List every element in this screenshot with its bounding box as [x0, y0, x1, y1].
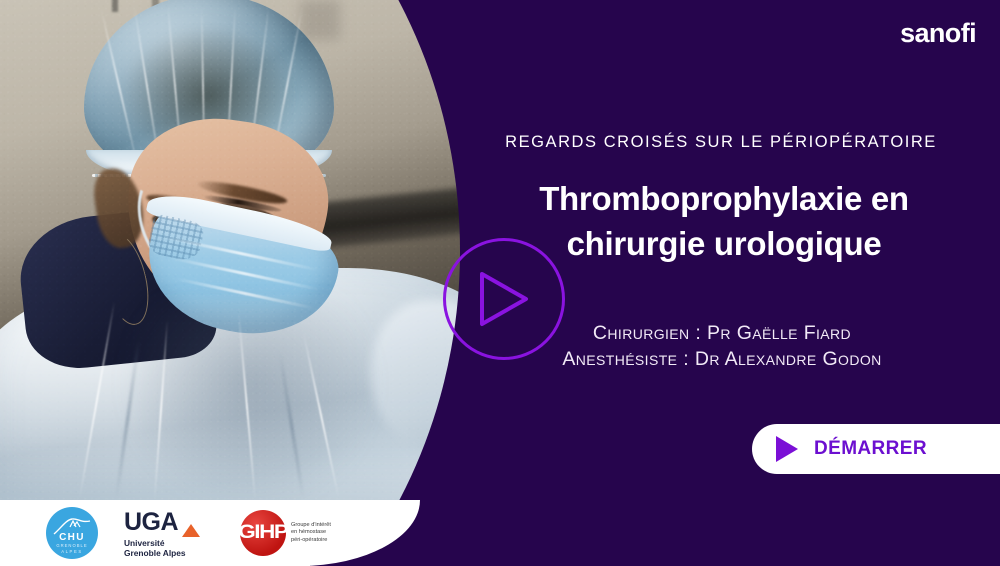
uga-mark: UGA: [124, 508, 178, 536]
chu-label: CHU: [46, 532, 98, 543]
video-thumbnail-slide: sanofi REGARDS CROISÉS SUR LE PÉRIOPÉRAT…: [0, 0, 1000, 566]
start-button-label: DÉMARRER: [814, 438, 927, 460]
speaker-credits: Chirurgien : Pr Gaëlle Fiard Anesthésist…: [470, 320, 974, 372]
hero-photo: [0, 0, 460, 502]
title-line-2: chirurgie urologique: [470, 221, 978, 266]
gihp-sub-2: en hémostase: [291, 529, 331, 537]
eyebrow-text: REGARDS CROISÉS SUR LE PÉRIOPÉRATOIRE: [470, 133, 972, 152]
partner-logos: CHU GRENOBLE ALPES UGA Université Grenob…: [0, 500, 420, 566]
sanofi-logo: sanofi: [900, 18, 976, 49]
gihp-sub-1: Groupe d'intérêt: [291, 522, 331, 530]
title-line-1: Thromboprophylaxie en: [470, 176, 978, 221]
uga-triangle-icon: [182, 524, 200, 537]
uga-sub-2: Grenoble Alpes: [124, 548, 214, 558]
credit-anesthetist: Anesthésiste : Dr Alexandre Godon: [470, 346, 974, 372]
gihp-mark: GIHP: [238, 522, 287, 544]
start-button[interactable]: DÉMARRER: [752, 424, 1000, 474]
credit-surgeon: Chirurgien : Pr Gaëlle Fiard: [470, 320, 974, 346]
logo-gihp: GIHP Groupe d'intérêt en hémostase péri-…: [240, 510, 331, 556]
uga-sub-1: Université: [124, 538, 214, 548]
page-title: Thromboprophylaxie en chirurgie urologiq…: [470, 176, 978, 266]
logo-uga: UGA Université Grenoble Alpes: [124, 510, 214, 556]
chu-sublabel-1: GRENOBLE: [46, 543, 98, 548]
gihp-sub-3: péri-opératoire: [291, 537, 331, 545]
logo-chu-grenoble-alpes: CHU GRENOBLE ALPES: [46, 507, 98, 559]
play-triangle-icon: [776, 436, 798, 462]
chu-sublabel-2: ALPES: [46, 549, 98, 554]
